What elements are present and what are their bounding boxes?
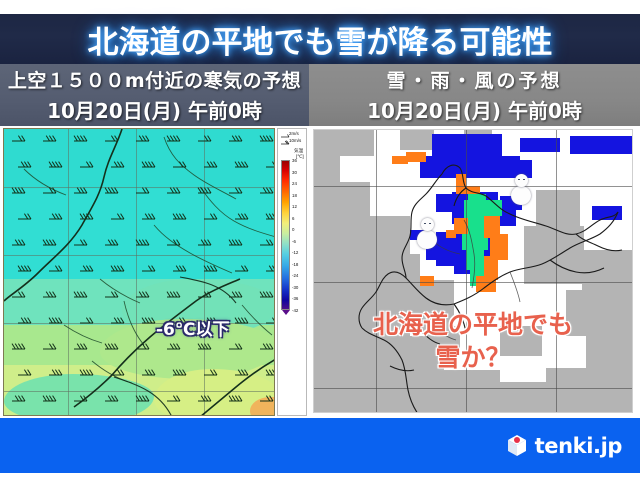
overlay-text-line2: 雪か？: [314, 338, 632, 374]
weather-graphic-root: 北海道の平地でも雪が降る可能性 上空１５００m付近の寒気の予想 10月20日(月…: [0, 0, 640, 480]
left-header-line2: 10月20日(月) 午前0時: [47, 95, 262, 124]
right-panel-header: 雪・雨・風の予想 10月20日(月) 午前0時: [309, 64, 640, 126]
colorbar-tick: -36: [292, 297, 298, 301]
colorbar-tick: -30: [292, 286, 298, 290]
temperature-colorbar: [281, 160, 290, 310]
colorbar-tick: -42: [292, 309, 298, 313]
left-panel-header: 上空１５００m付近の寒気の予想 10月20日(月) 午前0時: [0, 64, 309, 126]
wind-barbs-layer: [4, 129, 275, 416]
colorbar-tick: -18: [292, 263, 298, 267]
title-band: 北海道の平地でも雪が降る可能性: [0, 14, 640, 64]
left-panel: -6℃以下 2m/s 10m/s 気温 [℃] 363024181260-6-1…: [0, 126, 309, 418]
colorbar-tick: -12: [292, 251, 298, 255]
colorbar-tick-labels: 363024181260-6-12-18-24-30-36-42: [292, 157, 309, 313]
colorbar-tick: -24: [292, 274, 298, 278]
bottom-margin: [0, 473, 640, 480]
snowman-icon: [508, 174, 534, 206]
precipitation-map: 北海道の平地でも 雪か？: [313, 129, 633, 413]
right-header-line2: 10月20日(月) 午前0時: [367, 95, 582, 124]
colorbar-tick: 12: [292, 205, 297, 209]
footer-bar: tenki.jp: [0, 418, 640, 473]
left-header-line1: 上空１５００m付近の寒気の予想: [8, 66, 301, 93]
maps-area: -6℃以下 2m/s 10m/s 気温 [℃] 363024181260-6-1…: [0, 126, 640, 418]
colorbar-tick: 0: [292, 228, 294, 232]
snowman-icon: [414, 218, 440, 250]
colorbar-tick: 36: [292, 159, 297, 163]
cold-air-map: -6℃以下: [3, 128, 275, 416]
tenki-logo[interactable]: tenki.jp: [506, 434, 622, 458]
overlay-text-line1: 北海道の平地でも: [314, 305, 632, 341]
temperature-legend: 2m/s 10m/s 気温 [℃] 363024181260-6-12-18-2…: [277, 128, 307, 416]
colorbar-tick: 6: [292, 217, 294, 221]
legend-wind-small: 2m/s: [289, 131, 299, 136]
panel-headers: 上空１５００m付近の寒気の予想 10月20日(月) 午前0時 雪・雨・風の予想 …: [0, 64, 640, 126]
right-panel: 北海道の平地でも 雪か？: [309, 126, 640, 418]
tenki-cube-icon: [506, 434, 528, 458]
colorbar-tick: -6: [292, 240, 296, 244]
colorbar-tick: 18: [292, 194, 297, 198]
tenki-logo-text: tenki.jp: [535, 434, 622, 458]
colorbar-tick: 24: [292, 182, 297, 186]
colorbar-bottom-cap: [282, 310, 290, 315]
legend-wind-large: 10m/s: [289, 138, 301, 143]
right-header-line1: 雪・雨・風の予想: [386, 66, 562, 93]
colorbar-tick: 30: [292, 171, 297, 175]
minus-6-label: -6℃以下: [156, 315, 229, 340]
page-title: 北海道の平地でも雪が降る可能性: [88, 17, 553, 62]
